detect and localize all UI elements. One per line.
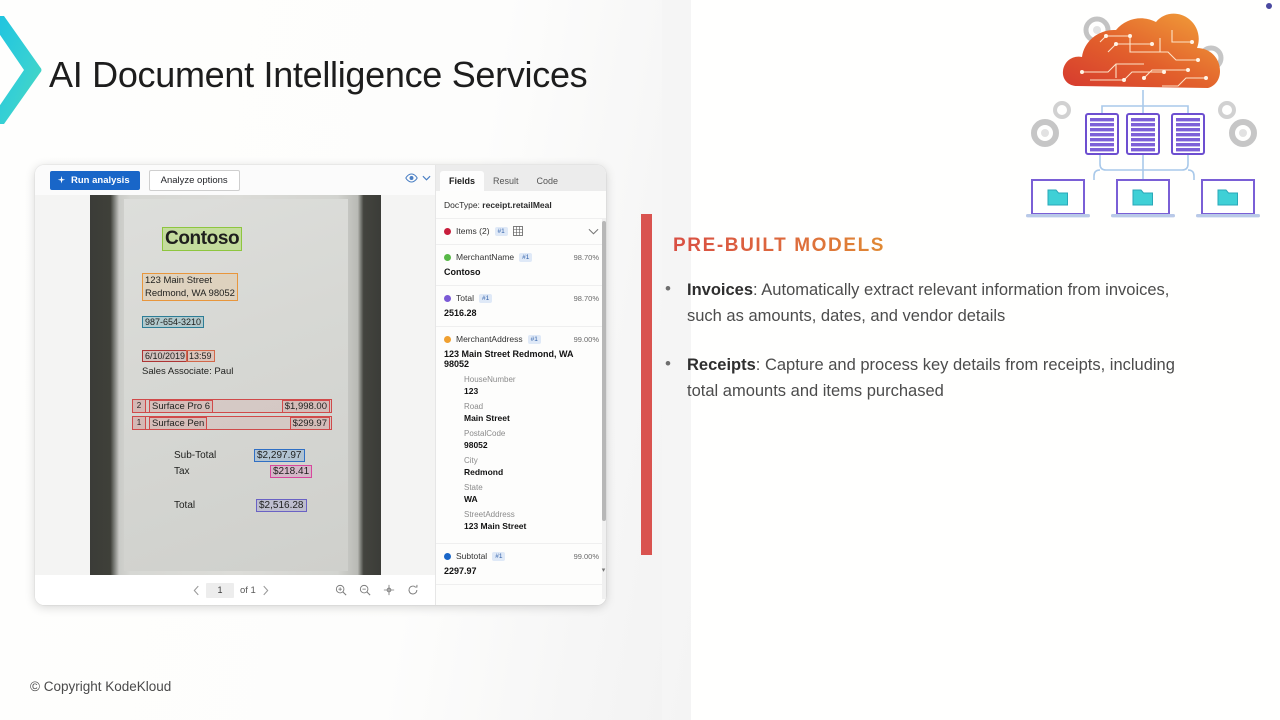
receipt-merchant-name-highlight: Contoso [162, 227, 242, 251]
scroll-down-arrow-icon[interactable]: ▾ [600, 566, 606, 574]
receipt-time-highlight: 13:59 [186, 350, 215, 362]
fields-scrollbar-thumb[interactable] [602, 221, 606, 521]
bullet-rest: : Capture and process key details from r… [687, 356, 1175, 400]
bullet-lead: Receipts [687, 356, 756, 374]
app-command-bar: Run analysis Analyze options [35, 165, 435, 195]
receipt-item-qty: 1 [133, 417, 146, 429]
receipt-subtotal-highlight: $2,297.97 [254, 449, 305, 462]
receipt-tax-highlight: $218.41 [270, 465, 312, 478]
field-row-total[interactable]: Total #1 98.70% 2516.28 [436, 286, 606, 327]
bullet-marker-icon: • [665, 352, 675, 404]
subfield-key: State [464, 483, 591, 492]
subfield-key: City [464, 456, 591, 465]
field-tag: #1 [495, 227, 508, 236]
viewer-footer-toolbar: 1 of 1 [35, 575, 435, 605]
field-name: Items (2) [456, 226, 490, 236]
field-value: 2297.97 [444, 566, 599, 576]
receipt-address-highlight: 123 Main Street Redmond, WA 98052 [142, 273, 238, 301]
field-confidence: 98.70% [574, 253, 599, 262]
doctype-label: DocType: [444, 200, 480, 210]
field-confidence: 98.70% [574, 294, 599, 303]
list-item: • Invoices: Automatically extract releva… [665, 277, 1195, 329]
zoom-in-icon[interactable] [335, 584, 347, 596]
run-analysis-label: Run analysis [71, 175, 130, 186]
field-color-dot [444, 254, 451, 261]
field-value: 123 Main Street Redmond, WA 98052 [444, 349, 599, 369]
page-navigation: 1 of 1 [193, 583, 269, 598]
slide-canvas: AI Document Intelligence Services © Copy… [0, 0, 1280, 720]
tab-fields[interactable]: Fields [440, 171, 484, 191]
tab-code[interactable]: Code [528, 171, 568, 191]
bullet-lead: Invoices [687, 281, 753, 299]
laptop-with-folder [1111, 180, 1175, 217]
chevron-down-icon[interactable] [588, 228, 599, 235]
subfield-city: City Redmond [444, 450, 599, 477]
receipt-address-line1: 123 Main Street [145, 274, 235, 287]
receipt-document: Contoso 123 Main Street Redmond, WA 9805… [124, 199, 348, 571]
gear-icon [1220, 103, 1254, 144]
eye-icon[interactable] [405, 173, 418, 183]
field-color-dot [444, 336, 451, 343]
subfield-key: PostalCode [464, 429, 591, 438]
receipt-tax-label: Tax [174, 466, 190, 477]
doctype-value: receipt.retailMeal [482, 200, 551, 210]
chevron-down-icon[interactable] [422, 175, 431, 181]
subfield-state: State WA [444, 477, 599, 504]
subfield-value: 123 [464, 386, 591, 396]
subfield-value: Redmond [464, 467, 591, 477]
fields-pane: Fields Result Code DocType: receipt.reta… [435, 165, 606, 605]
field-name: Total [456, 293, 474, 303]
receipt-item-price: $299.97 [290, 417, 330, 430]
cloud-ai-architecture-illustration [1012, 8, 1276, 226]
sparkle-analyze-icon [57, 176, 66, 185]
subfield-road: Road Main Street [444, 396, 599, 423]
subfield-housenumber: HouseNumber 123 [444, 369, 599, 396]
receipt-item-qty: 2 [133, 400, 146, 412]
chevron-left-icon[interactable] [193, 585, 200, 596]
field-confidence: 99.00% [574, 552, 599, 561]
laptop-with-folder [1026, 180, 1090, 217]
receipt-total-highlight: $2,516.28 [256, 499, 307, 512]
page-count-label: of 1 [240, 585, 256, 596]
subfield-value: 98052 [464, 440, 591, 450]
section-accent-bar [641, 214, 652, 555]
doctype-row: DocType: receipt.retailMeal [436, 191, 606, 219]
field-value: 2516.28 [444, 308, 599, 318]
field-value: Contoso [444, 267, 599, 277]
list-item: • Receipts: Capture and process key deta… [665, 352, 1195, 404]
field-row-merchantname[interactable]: MerchantName #1 98.70% Contoso [436, 245, 606, 286]
receipt-item-name: Surface Pro 6 [149, 400, 213, 413]
field-confidence: 99.00% [574, 335, 599, 344]
subfield-key: StreetAddress [464, 510, 591, 519]
rotate-icon[interactable] [407, 584, 419, 596]
subfield-value: WA [464, 494, 591, 504]
page-number-input[interactable]: 1 [206, 583, 234, 598]
zoom-tools-group [335, 584, 419, 596]
subfield-key: Road [464, 402, 591, 411]
receipt-sales-associate: Sales Associate: Paul [142, 366, 233, 377]
subfield-postalcode: PostalCode 98052 [444, 423, 599, 450]
receipt-phone-highlight: 987-654-3210 [142, 316, 204, 328]
bullet-rest: : Automatically extract relevant informa… [687, 281, 1169, 325]
chevron-accent-icon [0, 12, 44, 128]
document-intelligence-studio-screenshot: Run analysis Analyze options Contoso [35, 165, 606, 605]
field-color-dot [444, 553, 451, 560]
section-heading: PRE-BUILT MODELS [673, 235, 885, 257]
receipt-item-price: $1,998.00 [282, 400, 330, 413]
field-color-dot [444, 295, 451, 302]
field-tag: #1 [528, 335, 541, 344]
document-viewer[interactable]: Contoso 123 Main Street Redmond, WA 9805… [35, 195, 435, 575]
analyze-options-button[interactable]: Analyze options [149, 170, 240, 191]
field-tag: #1 [519, 253, 532, 262]
tab-result[interactable]: Result [484, 171, 528, 191]
field-tag: #1 [479, 294, 492, 303]
subfield-value: 123 Main Street [464, 521, 591, 531]
bullet-body: Receipts: Capture and process key detail… [687, 352, 1195, 404]
laptop-with-folder [1196, 180, 1260, 217]
field-name: MerchantName [456, 252, 514, 262]
server-rack [1127, 114, 1159, 154]
field-color-dot [444, 228, 451, 235]
receipt-subtotal-label: Sub-Total [174, 450, 216, 461]
fit-to-page-icon[interactable] [383, 584, 395, 596]
field-tag: #1 [492, 552, 505, 561]
field-row-subtotal[interactable]: Subtotal #1 99.00% 2297.97 [436, 544, 606, 585]
receipt-total-label: Total [174, 500, 195, 511]
receipt-date-highlight: 6/10/2019 [142, 350, 188, 362]
field-row-items[interactable]: Items (2) #1 [436, 219, 606, 245]
receipt-photo: Contoso 123 Main Street Redmond, WA 9805… [90, 195, 381, 575]
gear-icon [1034, 103, 1069, 144]
bullet-list: • Invoices: Automatically extract releva… [665, 277, 1195, 427]
table-icon[interactable] [513, 226, 523, 236]
subfield-value: Main Street [464, 413, 591, 423]
field-row-merchantaddress[interactable]: MerchantAddress #1 99.00% 123 Main Stree… [436, 327, 606, 544]
field-name: MerchantAddress [456, 334, 523, 344]
receipt-address-line2: Redmond, WA 98052 [145, 287, 235, 300]
fields-list[interactable]: DocType: receipt.retailMeal Items (2) #1 [436, 191, 606, 605]
bullet-body: Invoices: Automatically extract relevant… [687, 277, 1195, 329]
receipt-line-item: 1 Surface Pen $299.97 [132, 416, 332, 430]
receipt-line-item: 2 Surface Pro 6 $1,998.00 [132, 399, 332, 413]
field-name: Subtotal [456, 551, 487, 561]
bullet-marker-icon: • [665, 277, 675, 329]
server-rack [1086, 114, 1118, 154]
copyright-text: © Copyright KodeKloud [30, 679, 171, 694]
fields-pane-tabs: Fields Result Code [436, 165, 606, 191]
chevron-right-icon[interactable] [262, 585, 269, 596]
receipt-item-name: Surface Pen [149, 417, 207, 430]
server-rack [1172, 114, 1204, 154]
run-analysis-button[interactable]: Run analysis [50, 171, 140, 190]
zoom-out-icon[interactable] [359, 584, 371, 596]
page-title: AI Document Intelligence Services [49, 54, 587, 96]
view-options-group[interactable] [405, 173, 431, 183]
subfield-streetaddress: StreetAddress 123 Main Street [444, 504, 599, 535]
subfield-key: HouseNumber [464, 375, 591, 384]
